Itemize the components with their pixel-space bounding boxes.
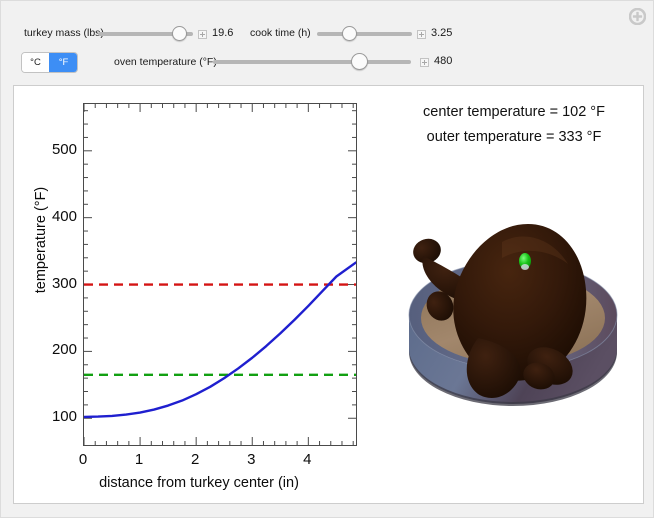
oven-temperature-value: 480 [434,55,452,67]
cook-time-label: cook time (h) [250,27,311,39]
oven-temperature-expander-plus-box-icon[interactable] [420,58,429,67]
turkey-mass-slider[interactable] [98,26,193,42]
turkey-mass-value: 19.6 [212,27,233,39]
x-tick-label: 3 [247,452,255,467]
temperature-unit-toggle[interactable]: °C °F [21,52,78,73]
slider-thumb[interactable] [172,26,187,41]
x-tick-label: 1 [135,452,143,467]
cook-time-expander-plus-box-icon[interactable] [417,30,426,39]
slider-track[interactable] [317,32,412,36]
x-tick-label: 0 [79,452,87,467]
center-temperature-readout: center temperature = 102 °F [388,100,640,125]
roast-turkey-in-pan-3d[interactable] [382,198,644,446]
oven-temperature-label: oven temperature (°F) [114,56,217,68]
slider-thumb[interactable] [342,26,357,41]
y-axis-title: temperature (°F) [33,150,49,330]
outer-temperature-readout: outer temperature = 333 °F [388,125,640,150]
y-tick-label: 100 [17,409,77,424]
temperature-readout: center temperature = 102 °F outer temper… [388,100,640,150]
y-tick-label: 200 [17,342,77,357]
turkey-mass-expander-plus-box-icon[interactable] [198,30,207,39]
cook-time-slider[interactable] [317,26,412,42]
controls-area: turkey mass (lbs) 19.6 cook time (h) 3.2… [1,1,654,85]
unit-option-celsius[interactable]: °C [22,53,49,72]
cook-time-value: 3.25 [431,27,452,39]
unit-option-fahrenheit[interactable]: °F [49,53,77,72]
x-tick-label: 4 [303,452,311,467]
slider-thumb[interactable] [351,53,368,70]
temperature-profile-chart: 100200300400500 01234 temperature (°F) d… [14,86,384,504]
plot-frame [83,103,357,446]
x-tick-label: 2 [191,452,199,467]
turkey-mass-label: turkey mass (lbs) [24,27,104,39]
plot-canvas [84,104,356,445]
x-axis-title: distance from turkey center (in) [14,475,384,491]
slider-track[interactable] [213,60,411,64]
manipulate-window: turkey mass (lbs) 19.6 cook time (h) 3.2… [0,0,654,518]
oven-temperature-slider[interactable] [213,54,411,70]
output-panel: 100200300400500 01234 temperature (°F) d… [13,85,644,504]
